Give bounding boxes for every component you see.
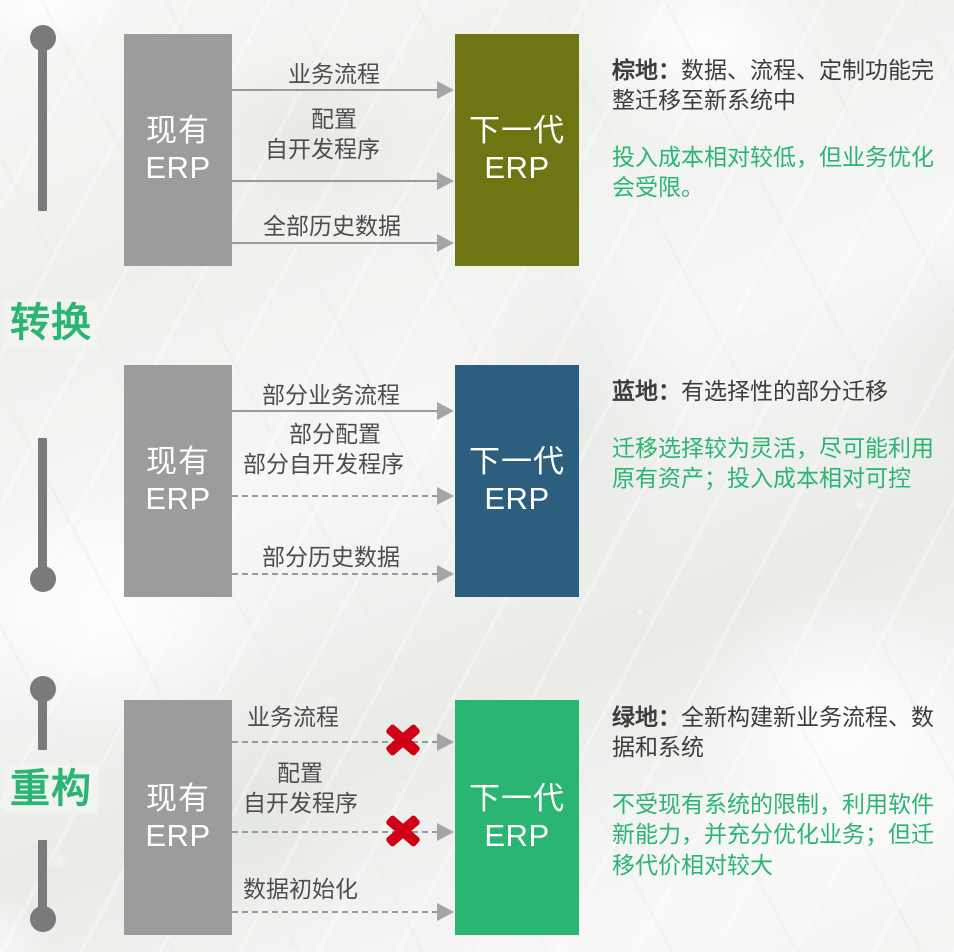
note-term-row2: 蓝地： — [612, 378, 681, 404]
arrow-shaft — [232, 495, 438, 497]
source-box-label-cn: 现有 — [146, 444, 210, 481]
phase-label-rebuild: 重构 — [4, 765, 98, 813]
note-body-row1: 投入成本相对较低，但业务优化会受限。 — [612, 142, 942, 203]
arrow-label-row1-2a: 配置 — [311, 105, 357, 133]
timeline-segment-1 — [38, 36, 47, 211]
source-box-label-cn: 现有 — [146, 113, 210, 150]
arrow-head — [437, 172, 454, 190]
arrow-head — [437, 823, 454, 841]
arrow-shaft — [232, 89, 438, 91]
arrow-label-row2-2a: 部分配置 — [289, 420, 381, 448]
source-box-label-cn: 现有 — [146, 781, 210, 818]
source-box-label-en: ERP — [145, 150, 210, 187]
diagram-stage: 转换 重构 现有 ERP 下一代 ERP 业务流程 配置 自开发程序 全部历史数… — [0, 0, 954, 952]
note-row3: 绿地：全新构建新业务流程、数据和系统 不受现有系统的限制，利用软件新能力，并充分… — [612, 703, 942, 880]
arrow-head — [437, 487, 454, 505]
note-term-row3: 绿地： — [612, 704, 681, 730]
blocked-x-icon-row3-1 — [381, 718, 425, 762]
source-box-label-en: ERP — [145, 818, 210, 855]
arrow-head — [437, 234, 454, 252]
arrow-head — [437, 903, 454, 921]
target-box-label-cn: 下一代 — [469, 444, 565, 481]
note-row2: 蓝地：有选择性的部分迁移 迁移选择较为灵活，尽可能利用原有资产；投入成本相对可控 — [612, 377, 942, 494]
note-heading-row3: 绿地：全新构建新业务流程、数据和系统 — [612, 703, 942, 763]
target-box-label-en: ERP — [484, 150, 549, 187]
timeline-segment-2 — [38, 438, 47, 578]
target-box-row1: 下一代 ERP — [455, 34, 579, 266]
arrow-shaft — [232, 180, 438, 182]
arrow-shaft — [232, 573, 438, 575]
arrow-label-row3-2a: 配置 — [277, 759, 323, 787]
source-box-row2: 现有 ERP — [124, 365, 232, 597]
arrow-head — [437, 565, 454, 583]
arrow-shaft — [232, 911, 438, 913]
arrow-label-row1-2b: 自开发程序 — [265, 135, 380, 163]
timeline-dot-mid-1 — [30, 566, 56, 592]
timeline-dot-bottom — [30, 906, 56, 932]
arrow-label-row1-3: 全部历史数据 — [263, 212, 401, 240]
arrow-shaft — [232, 410, 438, 412]
arrow-head — [437, 733, 454, 751]
timeline-segment-3 — [38, 692, 47, 750]
arrow-label-row3-1: 业务流程 — [247, 703, 339, 731]
target-box-label-en: ERP — [484, 818, 549, 855]
arrow-shaft — [232, 242, 438, 244]
arrow-label-row3-3: 数据初始化 — [243, 875, 358, 903]
arrow-label-row2-2b: 部分自开发程序 — [243, 450, 404, 478]
note-heading-text-row2: 有选择性的部分迁移 — [681, 378, 888, 404]
target-box-label-cn: 下一代 — [469, 113, 565, 150]
arrow-head — [437, 402, 454, 420]
source-box-label-en: ERP — [145, 481, 210, 518]
arrow-label-row2-3: 部分历史数据 — [262, 543, 400, 571]
arrow-head — [437, 81, 454, 99]
target-box-row3: 下一代 ERP — [455, 700, 579, 935]
arrow-label-row3-2b: 自开发程序 — [243, 789, 358, 817]
source-box-row3: 现有 ERP — [124, 700, 232, 935]
arrow-label-row2-1: 部分业务流程 — [262, 381, 400, 409]
blocked-x-icon-row3-2 — [381, 809, 425, 853]
arrow-label-row1-1: 业务流程 — [288, 60, 380, 88]
note-body-row3: 不受现有系统的限制，利用软件新能力，并充分优化业务；但迁移代价相对较大 — [612, 789, 942, 880]
target-box-label-cn: 下一代 — [469, 781, 565, 818]
note-body-row2: 迁移选择较为灵活，尽可能利用原有资产；投入成本相对可控 — [612, 433, 942, 494]
note-heading-row1: 棕地：数据、流程、定制功能完整迁移至新系统中 — [612, 56, 942, 116]
source-box-row1: 现有 ERP — [124, 34, 232, 266]
target-box-row2: 下一代 ERP — [455, 365, 579, 597]
note-term-row1: 棕地： — [612, 57, 681, 83]
note-row1: 棕地：数据、流程、定制功能完整迁移至新系统中 投入成本相对较低，但业务优化会受限… — [612, 56, 942, 203]
target-box-label-en: ERP — [484, 481, 549, 518]
phase-label-transform: 转换 — [4, 299, 98, 347]
note-heading-row2: 蓝地：有选择性的部分迁移 — [612, 377, 942, 407]
